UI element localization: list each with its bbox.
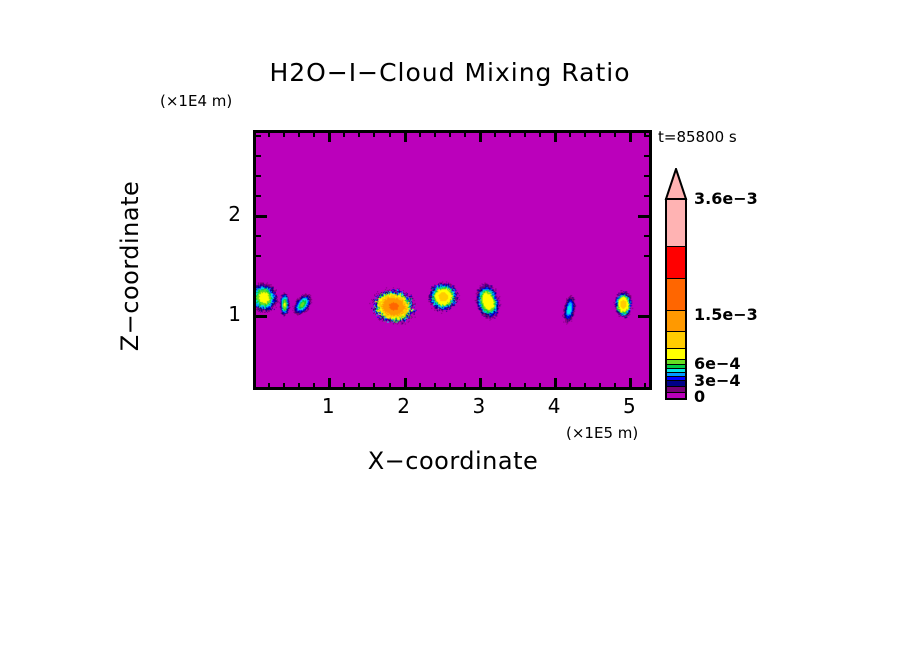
contour-field [256,133,649,387]
x-tick-label: 2 [384,394,424,418]
x-tick-label: 5 [609,394,649,418]
x-minor-tick-top [313,130,315,137]
colorbar-extend-arrow-icon [663,168,689,200]
y-minor-tick [253,175,261,177]
x-minor-tick [449,383,451,390]
x-minor-tick [298,383,300,390]
x-minor-tick-top [298,130,300,137]
colorbar-band [667,279,685,311]
x-tick-label: 4 [534,394,574,418]
y-tick-label: 2 [211,202,241,226]
x-major-tick-top [328,130,331,142]
y-minor-tick-right [644,195,652,197]
y-tick-label: 1 [211,302,241,326]
x-minor-tick [494,383,496,390]
y-minor-tick [253,135,261,137]
x-minor-tick [419,383,421,390]
y-axis-units-label: (×1E4 m) [160,92,232,110]
y-major-tick [253,315,267,318]
colorbar-band [667,332,685,348]
y-minor-tick-right [644,135,652,137]
x-minor-tick [569,383,571,390]
colorbar-tick-label: 0 [694,387,705,406]
x-major-tick-top [629,130,632,142]
x-minor-tick-top [464,130,466,137]
x-major-tick [554,378,557,390]
x-minor-tick [584,383,586,390]
x-major-tick-top [479,130,482,142]
y-minor-tick-right [644,175,652,177]
x-minor-tick-top [283,130,285,137]
x-minor-tick-top [449,130,451,137]
colorbar-bands [665,198,687,400]
x-minor-tick [644,383,646,390]
colorbar-band [667,200,685,247]
x-minor-tick-top [584,130,586,137]
contour-plot-area [253,130,652,390]
colorbar-band [667,393,685,398]
y-minor-tick-right [644,235,652,237]
x-minor-tick-top [509,130,511,137]
x-minor-tick [358,383,360,390]
y-major-tick-right [638,215,652,218]
x-minor-tick [599,383,601,390]
x-minor-tick [614,383,616,390]
x-major-tick [479,378,482,390]
y-minor-tick-right [644,255,652,257]
timestamp-annotation: t=85800 s [658,128,737,146]
x-minor-tick-top [569,130,571,137]
x-minor-tick-top [524,130,526,137]
x-major-tick [328,378,331,390]
x-minor-tick [313,383,315,390]
x-minor-tick-top [373,130,375,137]
x-major-tick-top [404,130,407,142]
x-minor-tick [268,383,270,390]
x-minor-tick-top [389,130,391,137]
y-minor-tick [253,195,261,197]
y-axis-title: Z−coordinate [116,66,144,466]
x-minor-tick-top [614,130,616,137]
x-major-tick-top [554,130,557,142]
x-minor-tick-top [419,130,421,137]
x-minor-tick-top [494,130,496,137]
x-major-tick [404,378,407,390]
x-minor-tick-top [268,130,270,137]
x-minor-tick [509,383,511,390]
y-minor-tick [253,255,261,257]
x-minor-tick [389,383,391,390]
y-minor-tick [253,155,261,157]
x-minor-tick-top [599,130,601,137]
x-axis-units-label: (×1E5 m) [566,424,638,442]
x-minor-tick-top [358,130,360,137]
x-minor-tick [343,383,345,390]
colorbar [663,168,689,400]
x-tick-label: 1 [308,394,348,418]
x-minor-tick [373,383,375,390]
colorbar-band [667,311,685,333]
colorbar-band [667,247,685,279]
x-minor-tick-top [343,130,345,137]
x-minor-tick-top [539,130,541,137]
y-minor-tick [253,235,261,237]
x-axis-title: X−coordinate [253,447,653,475]
x-minor-tick [539,383,541,390]
x-major-tick [629,378,632,390]
y-major-tick [253,215,267,218]
x-minor-tick [434,383,436,390]
colorbar-band [667,349,685,360]
x-minor-tick [464,383,466,390]
x-minor-tick-top [434,130,436,137]
x-minor-tick [524,383,526,390]
y-minor-tick-right [644,155,652,157]
y-major-tick-right [638,315,652,318]
x-minor-tick [283,383,285,390]
figure-canvas: H2O−I−Cloud Mixing Ratio (×1E4 m) (×1E5 … [0,0,904,654]
x-tick-label: 3 [459,394,499,418]
colorbar-tick-label: 1.5e−3 [694,305,758,324]
colorbar-tick-label: 3.6e−3 [694,189,758,208]
